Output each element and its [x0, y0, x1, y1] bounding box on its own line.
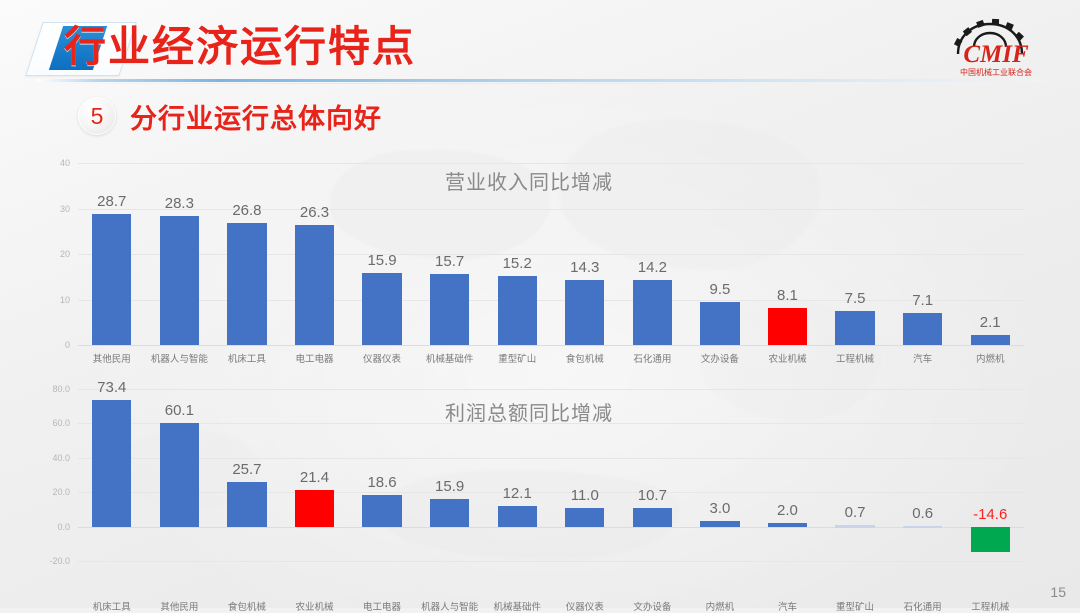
x-axis-category-label: 其他民用: [78, 351, 146, 365]
bar-group[interactable]: 15.2重型矿山: [483, 163, 551, 345]
bar[interactable]: [971, 527, 1010, 552]
bar[interactable]: [971, 335, 1010, 345]
bar-value-label: 2.1: [956, 314, 1024, 331]
bar-value-label: 9.5: [686, 281, 754, 298]
x-axis-category-label: 汽车: [889, 351, 957, 365]
bar-group[interactable]: 21.4农业机械: [281, 389, 349, 561]
bar-value-label: 3.0: [686, 500, 754, 517]
chart-plot-area: 01020304028.7其他民用28.3机器人与智能26.8机床工具26.3电…: [78, 163, 1024, 345]
bar-value-label: 14.2: [619, 259, 687, 276]
bar-group[interactable]: 11.0仪器仪表: [551, 389, 619, 561]
bar[interactable]: [565, 280, 604, 345]
bar[interactable]: [835, 525, 874, 528]
header-divider-secondary: [36, 83, 1046, 84]
bar-group[interactable]: 2.1内燃机: [956, 163, 1024, 345]
x-axis-category-label: 内燃机: [686, 599, 754, 613]
y-axis-tick-label: 30: [24, 204, 70, 214]
bar-value-label: 12.1: [483, 485, 551, 502]
bar-group[interactable]: 12.1机械基础件: [483, 389, 551, 561]
bar-value-label: 15.9: [348, 252, 416, 269]
y-axis-tick-label: 20.0: [24, 487, 70, 497]
bar[interactable]: [227, 223, 266, 345]
bar-value-label: 0.7: [821, 504, 889, 521]
x-axis-category-label: 机械基础件: [416, 351, 484, 365]
subheading-number: 5: [91, 105, 104, 128]
bar-group[interactable]: 7.5工程机械: [821, 163, 889, 345]
bar[interactable]: [633, 508, 672, 526]
bar-value-label: 21.4: [281, 469, 349, 486]
bar-value-label: 15.2: [483, 255, 551, 272]
bar[interactable]: [295, 490, 334, 527]
bar[interactable]: [498, 506, 537, 527]
bar-value-label: 60.1: [146, 402, 214, 419]
x-axis-category-label: 机器人与智能: [146, 351, 214, 365]
bar[interactable]: [700, 521, 739, 526]
bar-value-label: 26.8: [213, 202, 281, 219]
bar[interactable]: [835, 311, 874, 345]
page-number: 15: [1050, 584, 1066, 600]
bar-group[interactable]: 2.0汽车: [754, 389, 822, 561]
x-axis-category-label: 内燃机: [956, 351, 1024, 365]
x-axis-category-label: 电工电器: [281, 351, 349, 365]
x-axis-category-label: 汽车: [754, 599, 822, 613]
bar-value-label: 15.9: [416, 478, 484, 495]
bar[interactable]: [430, 499, 469, 526]
chart-plot-area: -20.00.020.040.060.080.073.4机床工具60.1其他民用…: [78, 389, 1024, 561]
bar[interactable]: [768, 308, 807, 345]
grid-line: [78, 345, 1024, 346]
bar-value-label: 14.3: [551, 259, 619, 276]
bar-group[interactable]: 25.7食包机械: [213, 389, 281, 561]
x-axis-category-label: 其他民用: [146, 599, 214, 613]
subheading-text: 分行业运行总体向好: [130, 97, 382, 136]
x-axis-category-label: 重型矿山: [821, 599, 889, 613]
logo-chinese-name: 中国机械工业联合会: [960, 67, 1032, 77]
bar-value-label: 25.7: [213, 461, 281, 478]
bar[interactable]: [903, 313, 942, 345]
bar[interactable]: [362, 495, 401, 527]
bar-value-label: 7.5: [821, 290, 889, 307]
y-axis-tick-label: 10: [24, 295, 70, 305]
x-axis-category-label: 石化通用: [889, 599, 957, 613]
bar[interactable]: [92, 214, 131, 345]
slide-background: 行业经济运行特点 CMIF 中国机械工业联合会: [0, 0, 1080, 608]
bar-value-label: 11.0: [551, 487, 619, 504]
y-axis-tick-label: 40: [24, 158, 70, 168]
bar[interactable]: [768, 523, 807, 526]
bar-group[interactable]: 14.2石化通用: [619, 163, 687, 345]
bar-group[interactable]: 60.1其他民用: [146, 389, 214, 561]
bar-group[interactable]: 0.7重型矿山: [821, 389, 889, 561]
bar[interactable]: [430, 274, 469, 345]
bar-group[interactable]: 8.1农业机械: [754, 163, 822, 345]
subheading-number-badge: 5: [78, 97, 116, 135]
bar-value-label: 28.3: [146, 195, 214, 212]
x-axis-category-label: 机床工具: [78, 599, 146, 613]
subheading: 5 分行业运行总体向好: [78, 94, 382, 138]
x-axis-category-label: 电工电器: [348, 599, 416, 613]
bar[interactable]: [92, 400, 131, 526]
bar-value-label: 10.7: [619, 487, 687, 504]
y-axis-tick-label: 20: [24, 249, 70, 259]
x-axis-category-label: 文办设备: [619, 599, 687, 613]
x-axis-category-label: 重型矿山: [483, 351, 551, 365]
bar-group[interactable]: 15.7机械基础件: [416, 163, 484, 345]
bar-value-label: 7.1: [889, 292, 957, 309]
x-axis-category-label: 文办设备: [686, 351, 754, 365]
bar[interactable]: [227, 482, 266, 526]
header-divider: [36, 79, 1046, 82]
bar-group[interactable]: 18.6电工电器: [348, 389, 416, 561]
slide-header: 行业经济运行特点 CMIF 中国机械工业联合会: [0, 0, 1080, 88]
bar-group[interactable]: 9.5文办设备: [686, 163, 754, 345]
x-axis-category-label: 机械基础件: [483, 599, 551, 613]
x-axis-category-label: 机床工具: [213, 351, 281, 365]
bar[interactable]: [295, 225, 334, 345]
bar-value-label: -14.6: [956, 506, 1024, 523]
bar-value-label: 73.4: [78, 379, 146, 396]
bar-group[interactable]: 15.9机器人与智能: [416, 389, 484, 561]
bar-group[interactable]: 28.3机器人与智能: [146, 163, 214, 345]
x-axis-category-label: 工程机械: [821, 351, 889, 365]
x-axis-category-label: 农业机械: [281, 599, 349, 613]
chart-profit-yoy: 利润总额同比增减 -20.00.020.040.060.080.073.4机床工…: [0, 380, 1040, 595]
bar-group[interactable]: 26.8机床工具: [213, 163, 281, 345]
x-axis-category-label: 仪器仪表: [348, 351, 416, 365]
x-axis-category-label: 石化通用: [619, 351, 687, 365]
bar-group[interactable]: 0.6石化通用: [889, 389, 957, 561]
bar-group[interactable]: 10.7文办设备: [619, 389, 687, 561]
bar[interactable]: [565, 508, 604, 527]
bar-group[interactable]: 3.0内燃机: [686, 389, 754, 561]
bar-group[interactable]: 28.7其他民用: [78, 163, 146, 345]
bar-group[interactable]: -14.6工程机械: [956, 389, 1024, 561]
bar[interactable]: [160, 216, 199, 345]
page-title: 行业经济运行特点: [64, 18, 416, 76]
x-axis-category-label: 机器人与智能: [416, 599, 484, 613]
y-axis-tick-label: 0.0: [24, 522, 70, 532]
y-axis-tick-label: 80.0: [24, 384, 70, 394]
bar-value-label: 8.1: [754, 287, 822, 304]
bar-value-label: 18.6: [348, 474, 416, 491]
bar-group[interactable]: 14.3食包机械: [551, 163, 619, 345]
bar-value-label: 28.7: [78, 193, 146, 210]
x-axis-category-label: 仪器仪表: [551, 599, 619, 613]
bar[interactable]: [700, 302, 739, 345]
bar[interactable]: [362, 273, 401, 345]
bar-value-label: 26.3: [281, 204, 349, 221]
x-axis-category-label: 工程机械: [956, 599, 1024, 613]
y-axis-tick-label: 40.0: [24, 453, 70, 463]
bar-group[interactable]: 26.3电工电器: [281, 163, 349, 345]
bar-group[interactable]: 73.4机床工具: [78, 389, 146, 561]
x-axis-category-label: 农业机械: [754, 351, 822, 365]
bar[interactable]: [160, 423, 199, 526]
logo-acronym: CMIF: [963, 41, 1029, 68]
bar[interactable]: [633, 280, 672, 345]
bar[interactable]: [498, 276, 537, 345]
bar-group[interactable]: 15.9仪器仪表: [348, 163, 416, 345]
bar-group[interactable]: 7.1汽车: [889, 163, 957, 345]
bar-value-label: 15.7: [416, 253, 484, 270]
chart-revenue-yoy: 营业收入同比增减 01020304028.7其他民用28.3机器人与智能26.8…: [0, 150, 1040, 368]
x-axis-category-label: 食包机械: [551, 351, 619, 365]
bar-value-label: 2.0: [754, 502, 822, 519]
y-axis-tick-label: 60.0: [24, 418, 70, 428]
grid-line: [78, 561, 1024, 562]
bar-value-label: 0.6: [889, 505, 957, 522]
cmif-logo: CMIF 中国机械工业联合会: [934, 6, 1058, 82]
x-axis-category-label: 食包机械: [213, 599, 281, 613]
y-axis-tick-label: 0: [24, 340, 70, 350]
bar[interactable]: [903, 526, 942, 529]
y-axis-tick-label: -20.0: [24, 556, 70, 566]
